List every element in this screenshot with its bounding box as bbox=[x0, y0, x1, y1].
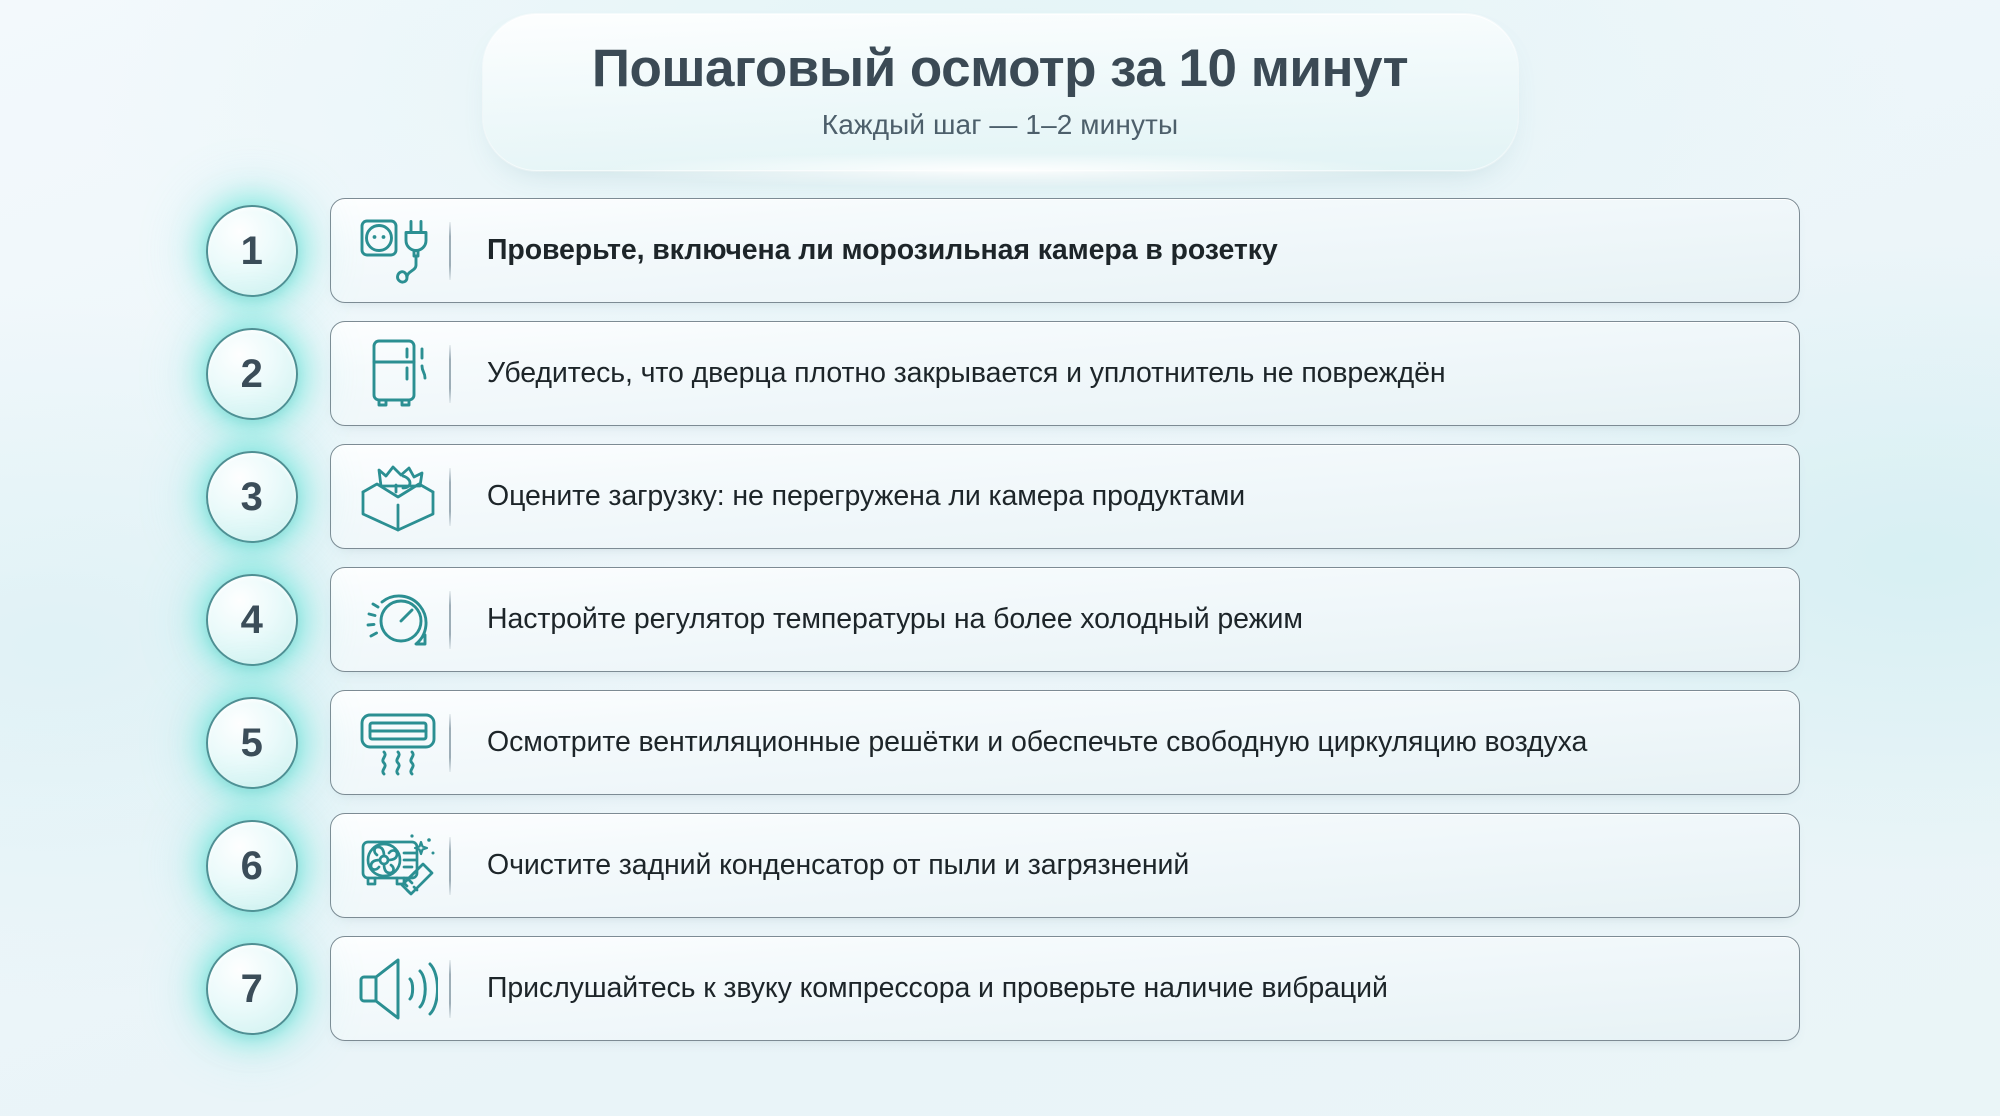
step-number: 5 bbox=[241, 723, 264, 763]
step-number: 6 bbox=[241, 846, 264, 886]
step-row[interactable]: 2 Убедитесь, что дверца плотно закрывает… bbox=[206, 321, 1800, 426]
step-list: 1 Проверьте, включена ли bbox=[0, 198, 2000, 1041]
header-pill: Пошаговый осмотр за 10 минут Каждый шаг … bbox=[483, 14, 1518, 171]
step-number-badge: 5 bbox=[206, 697, 298, 789]
header: Пошаговый осмотр за 10 минут Каждый шаг … bbox=[0, 14, 2000, 171]
step-number-badge: 4 bbox=[206, 574, 298, 666]
refrigerator-icon bbox=[331, 322, 449, 425]
speaker-sound-icon bbox=[331, 937, 449, 1040]
air-vent-icon bbox=[331, 691, 449, 794]
step-row[interactable]: 1 Проверьте, включена ли bbox=[206, 198, 1800, 303]
temperature-dial-icon bbox=[331, 568, 449, 671]
card-divider bbox=[449, 714, 451, 772]
card-divider bbox=[449, 960, 451, 1018]
step-row[interactable]: 5 Осмотрите вентиляционные решётки и обе… bbox=[206, 690, 1800, 795]
step-row[interactable]: 6 bbox=[206, 813, 1800, 918]
step-text: Прислушайтесь к звуку компрессора и пров… bbox=[487, 970, 1799, 1008]
step-number: 2 bbox=[241, 354, 264, 394]
step-card[interactable]: Оцените загрузку: не перегружена ли каме… bbox=[330, 444, 1800, 549]
step-text: Осмотрите вентиляционные решётки и обесп… bbox=[487, 724, 1799, 762]
step-card[interactable]: Прислушайтесь к звуку компрессора и пров… bbox=[330, 936, 1800, 1041]
card-divider bbox=[449, 222, 451, 280]
step-row[interactable]: 3 Оцените загрузку: не перегружена ли ка… bbox=[206, 444, 1800, 549]
page-title: Пошаговый осмотр за 10 минут bbox=[543, 40, 1458, 97]
step-card[interactable]: Осмотрите вентиляционные решётки и обесп… bbox=[330, 690, 1800, 795]
infographic-page: Пошаговый осмотр за 10 минут Каждый шаг … bbox=[0, 0, 2000, 1116]
step-row[interactable]: 4 Настройте регулятор температуры на бол… bbox=[206, 567, 1800, 672]
socket-plug-icon bbox=[331, 199, 449, 302]
step-number-badge: 6 bbox=[206, 820, 298, 912]
step-text: Проверьте, включена ли морозильная камер… bbox=[487, 232, 1799, 270]
step-text: Очистите задний конденсатор от пыли и за… bbox=[487, 847, 1799, 885]
step-number-badge: 7 bbox=[206, 943, 298, 1035]
step-number: 3 bbox=[241, 477, 264, 517]
condenser-brush-icon bbox=[331, 814, 449, 917]
step-number-badge: 2 bbox=[206, 328, 298, 420]
step-number: 4 bbox=[241, 600, 264, 640]
step-text: Настройте регулятор температуры на более… bbox=[487, 601, 1799, 639]
open-box-icon bbox=[331, 445, 449, 548]
card-divider bbox=[449, 345, 451, 403]
page-subtitle: Каждый шаг — 1–2 минуты bbox=[543, 109, 1458, 141]
step-card[interactable]: Убедитесь, что дверца плотно закрывается… bbox=[330, 321, 1800, 426]
step-card[interactable]: Настройте регулятор температуры на более… bbox=[330, 567, 1800, 672]
step-number: 7 bbox=[241, 969, 264, 1009]
step-number-badge: 1 bbox=[206, 205, 298, 297]
step-text: Оцените загрузку: не перегружена ли каме… bbox=[487, 478, 1799, 516]
step-text: Убедитесь, что дверца плотно закрывается… bbox=[487, 355, 1799, 393]
step-card[interactable]: Проверьте, включена ли морозильная камер… bbox=[330, 198, 1800, 303]
step-card[interactable]: Очистите задний конденсатор от пыли и за… bbox=[330, 813, 1800, 918]
step-number: 1 bbox=[241, 231, 264, 271]
card-divider bbox=[449, 591, 451, 649]
card-divider bbox=[449, 837, 451, 895]
step-number-badge: 3 bbox=[206, 451, 298, 543]
card-divider bbox=[449, 468, 451, 526]
step-row[interactable]: 7 Прислушайтесь к звуку компрессора и пр… bbox=[206, 936, 1800, 1041]
